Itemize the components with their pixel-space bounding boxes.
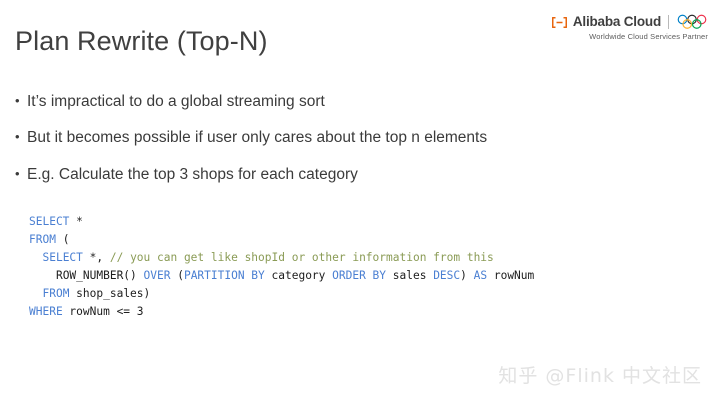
code-token-plain: *, <box>83 251 110 264</box>
code-token-plain: category <box>265 269 332 282</box>
code-token-kw: SELECT <box>29 215 69 228</box>
bullet-list: • It’s impractical to do a global stream… <box>15 92 675 201</box>
code-line: SELECT *, // you can get like shopId or … <box>29 249 534 267</box>
alibaba-cloud-logo: Alibaba Cloud Worldwide Cloud Services P… <box>551 14 708 41</box>
logo-tagline: Worldwide Cloud Services Partner <box>551 33 708 41</box>
code-line: WHERE rowNum <= 3 <box>29 303 534 321</box>
list-item: • E.g. Calculate the top 3 shops for eac… <box>15 165 675 184</box>
bullet-marker-icon: • <box>15 92 27 110</box>
code-token-plain: ) <box>460 269 473 282</box>
page-title: Plan Rewrite (Top-N) <box>15 26 268 57</box>
logo-brand-text: Alibaba Cloud <box>573 15 661 29</box>
code-token-plain: rowNum <= 3 <box>63 305 144 318</box>
code-token-plain: sales <box>386 269 433 282</box>
code-token-plain: shop_sales) <box>69 287 150 300</box>
code-token-plain: * <box>69 215 82 228</box>
code-token-kw: DESC <box>433 269 460 282</box>
bullet-marker-icon: • <box>15 128 27 146</box>
code-line: ROW_NUMBER() OVER (PARTITION BY category… <box>29 267 534 285</box>
code-token-cmt: // you can get like shopId or other info… <box>110 251 494 264</box>
code-token-kw: OVER <box>144 269 171 282</box>
list-item: • It’s impractical to do a global stream… <box>15 92 675 111</box>
code-token-plain: ( <box>56 233 69 246</box>
code-token-kw: FROM <box>42 287 69 300</box>
code-token-kw: PARTITION BY <box>184 269 265 282</box>
code-token-kw: SELECT <box>42 251 82 264</box>
code-token-plain: rowNum <box>487 269 534 282</box>
logo-divider <box>668 15 669 29</box>
code-token-kw: AS <box>474 269 487 282</box>
code-token-plain: ROW_NUMBER() <box>56 269 144 282</box>
watermark: 知乎 @Flink 中文社区 <box>498 361 702 388</box>
list-item: • But it becomes possible if user only c… <box>15 128 675 147</box>
code-token-kw: WHERE <box>29 305 63 318</box>
code-line: SELECT * <box>29 213 534 231</box>
list-item-text: It’s impractical to do a global streamin… <box>27 92 675 111</box>
code-line: FROM ( <box>29 231 534 249</box>
logo-row: Alibaba Cloud <box>551 14 708 30</box>
alibaba-cloud-mark-icon <box>551 16 568 29</box>
code-line: FROM shop_sales) <box>29 285 534 303</box>
olympic-rings-icon <box>676 14 708 30</box>
sql-code-block: SELECT *FROM ( SELECT *, // you can get … <box>29 213 534 321</box>
code-token-kw: FROM <box>29 233 56 246</box>
code-token-plain: ( <box>170 269 183 282</box>
list-item-text: E.g. Calculate the top 3 shops for each … <box>27 165 675 184</box>
list-item-text: But it becomes possible if user only car… <box>27 128 675 147</box>
bullet-marker-icon: • <box>15 165 27 183</box>
code-token-kw: ORDER BY <box>332 269 386 282</box>
